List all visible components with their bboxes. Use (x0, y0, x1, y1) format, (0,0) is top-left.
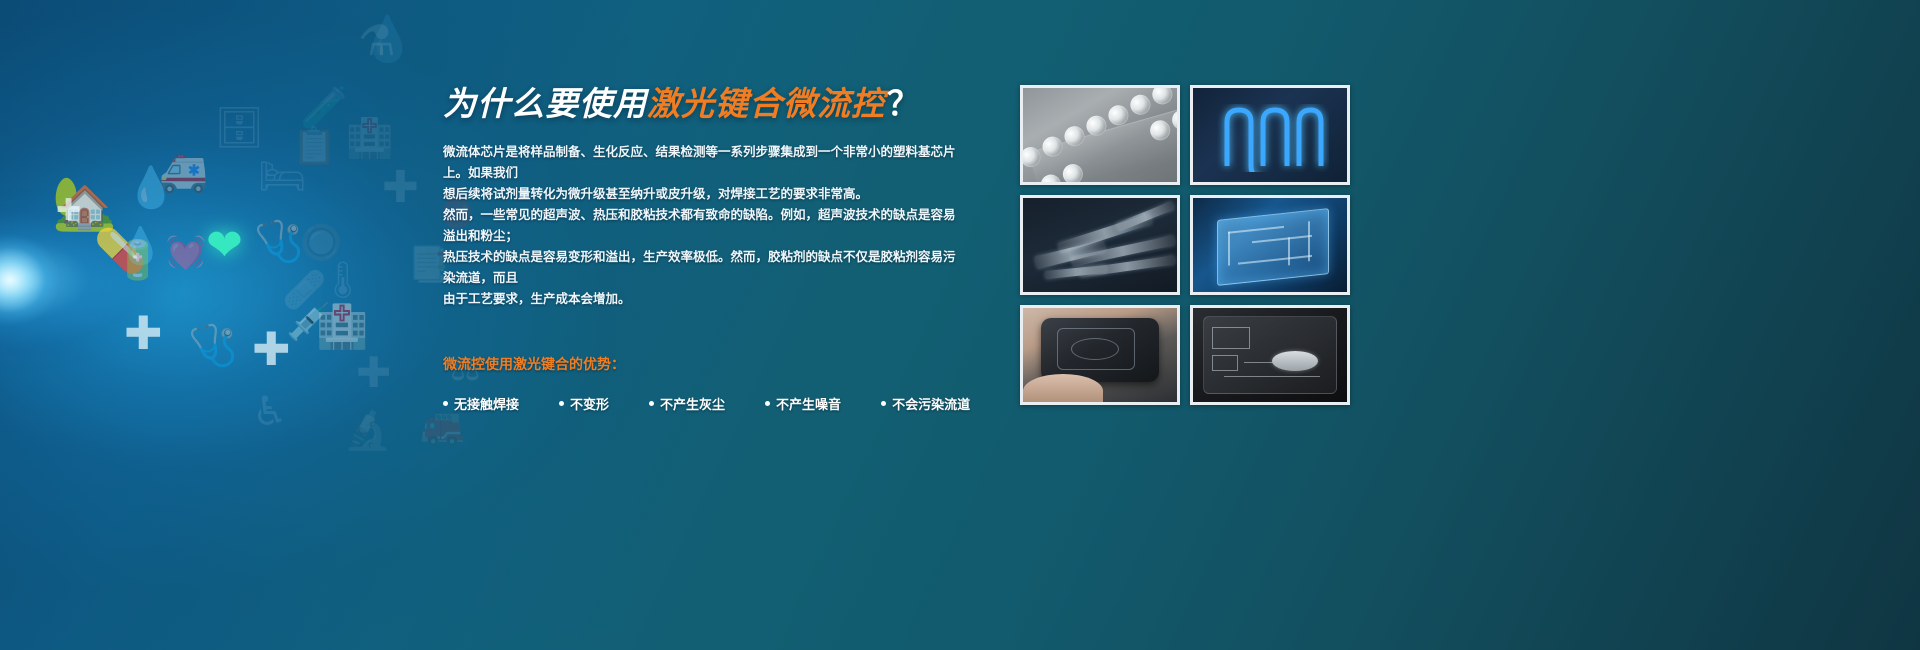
flask-outline-icon: ⚗ (358, 20, 396, 62)
battery-icon: 🔋 (114, 242, 161, 280)
heartbeat-line-icon: 🔘 (300, 226, 342, 260)
photo-surface (1023, 88, 1177, 182)
light-beam-core (0, 225, 100, 335)
hospital-building-icon: 🏥 (346, 120, 393, 158)
medical-cross-icon-b: ✚ (252, 326, 291, 372)
paragraph-line-3: 然而，一些常见的超声波、热压和胶粘技术都有致命的缺陷。例如，超声波技术的缺点是容… (443, 205, 963, 247)
serpentine-channel-chip-photo[interactable]: 蓝色蛇形流道芯片 (1190, 85, 1350, 185)
id-card-icon: 🗄 (214, 108, 265, 148)
blue-illuminated-manifold-photo[interactable]: 蓝光照射的透明流道模块 (1190, 195, 1350, 295)
list-item: 不变形 (559, 394, 609, 413)
bullet-dot-icon (559, 401, 564, 406)
bullet-dot-icon (443, 401, 448, 406)
title-highlight: 激光键合微流控 (647, 85, 885, 122)
first-aid-plus-icon: ✚ (56, 196, 81, 226)
list-item: 不产生噪音 (765, 394, 841, 413)
bullet-dot-icon (765, 401, 770, 406)
medical-cross-icon-a: ✚ (124, 310, 163, 356)
paragraph-line-5: 由于工艺要求，生产成本会增加。 (443, 289, 963, 310)
product-gallery: 透明微流控芯片带圆形进样孔 蓝色蛇形流道芯片 深色背景上的透明芯片 (1020, 85, 1350, 405)
thermometer-icon: 🌡 (320, 262, 366, 298)
title-lead: 为什么要使用 (443, 85, 647, 122)
bandage-icon: 🩹 (282, 272, 327, 308)
truck-icon: 🚒 (420, 408, 465, 444)
serpentine-channel-graphic (1217, 104, 1329, 172)
black-cassette-chamber-photo[interactable]: 黑色卡盒带椭圆反应腔 (1190, 305, 1350, 405)
stethoscope-icon: 🩺 (254, 222, 304, 262)
paragraph-line-4: 热压技术的缺点是容易变形和溢出，生产效率极低。然而，胶粘剂的缺点不仅是胶粘剂容易… (443, 247, 963, 289)
intro-paragraphs: 微流体芯片是将样品制备、生化反应、结果检测等一系列步骤集成到一个非常小的塑料基芯… (443, 142, 963, 310)
bullet-dot-icon (881, 401, 886, 406)
advantages-heading: 微流控使用激光键合的优势： (443, 354, 963, 374)
advantage-label: 不变形 (570, 394, 609, 413)
heart-icon: ❤ (206, 224, 243, 268)
cassette-plate (1203, 316, 1337, 394)
home-medical-icon: 🏡 (52, 178, 117, 230)
advantage-label: 无接触焊接 (454, 394, 519, 413)
flask-icon: 💧 (360, 18, 415, 62)
first-aid-kit-icon: 🩺 (188, 326, 238, 366)
hospital-bed-icon: 🛏 (258, 158, 306, 196)
bullet-dot-icon (649, 401, 654, 406)
light-beam-glow (0, 150, 370, 410)
advantage-label: 不会污染流道 (892, 394, 970, 413)
plus-cross-icon-a: ✚ (382, 166, 419, 210)
advantage-label: 不产生灰尘 (660, 394, 725, 413)
reaction-chamber (1272, 351, 1318, 371)
list-item: 无接触焊接 (443, 394, 519, 413)
clinic-icon: 🏥 (316, 306, 368, 348)
syringe-icon: 💉 (286, 304, 331, 340)
heartbeat-icon: 💓 (166, 236, 206, 268)
microfluidic-chip-wells-photo[interactable]: 透明微流控芯片带圆形进样孔 (1020, 85, 1180, 185)
page-title: 为什么要使用激光键合微流控？ (443, 84, 963, 124)
manifold-block (1217, 208, 1329, 286)
test-tube-icon: 🧪 (300, 88, 350, 128)
photo-surface (1193, 198, 1347, 292)
black-cartridge (1041, 318, 1159, 382)
advantages-list: 无接触焊接 不变形 不产生灰尘 不产生噪音 不会污染流道 (443, 394, 963, 413)
clear-chip-strips-photo[interactable]: 深色背景上的透明芯片条 (1020, 195, 1180, 295)
hand (1023, 374, 1103, 405)
microscope-icon: 🔬 (344, 412, 391, 450)
blood-bag-icon: 💧 (118, 228, 163, 264)
advantage-label: 不产生噪音 (776, 394, 841, 413)
list-item: 不产生灰尘 (649, 394, 725, 413)
well-row (1020, 85, 1180, 185)
paragraph-line-2: 想后续将试剂量转化为微升级甚至纳升或皮升级，对焊接工艺的要求非常高。 (443, 184, 963, 205)
clipboard-icon: 📋 (292, 128, 337, 164)
photo-surface (1023, 198, 1177, 292)
list-item: 不会污染流道 (881, 394, 970, 413)
photo-surface (1193, 308, 1347, 402)
dropper-icon: 💧 (126, 168, 176, 208)
ambulance-icon: 🚑 (158, 152, 208, 192)
banner-copy: 为什么要使用激光键合微流控？ 微流体芯片是将样品制备、生化反应、结果检测等一系列… (443, 84, 963, 413)
hand-held-black-cartridge-photo[interactable]: 手持黑色塑料流道件 (1020, 305, 1180, 405)
photo-surface (1023, 308, 1177, 402)
wheelchair-icon: ♿ (252, 392, 288, 432)
paragraph-line-1: 微流体芯片是将样品制备、生化反应、结果检测等一系列步骤集成到一个非常小的塑料基芯… (443, 142, 963, 184)
promo-banner: 💧 ⚗ 🧪 🗄 📋 🏥 🚑 🛏 ✚ 🏡 💧 🩸 💊 💧 🩺 ❤ 💓 🔘 ✚ 🔋 … (0, 0, 1920, 650)
title-question-mark: ？ (887, 85, 921, 122)
photo-surface (1193, 88, 1347, 182)
pill-icon: 💊 (94, 230, 146, 272)
plus-cross-icon-b: ✚ (356, 352, 391, 394)
